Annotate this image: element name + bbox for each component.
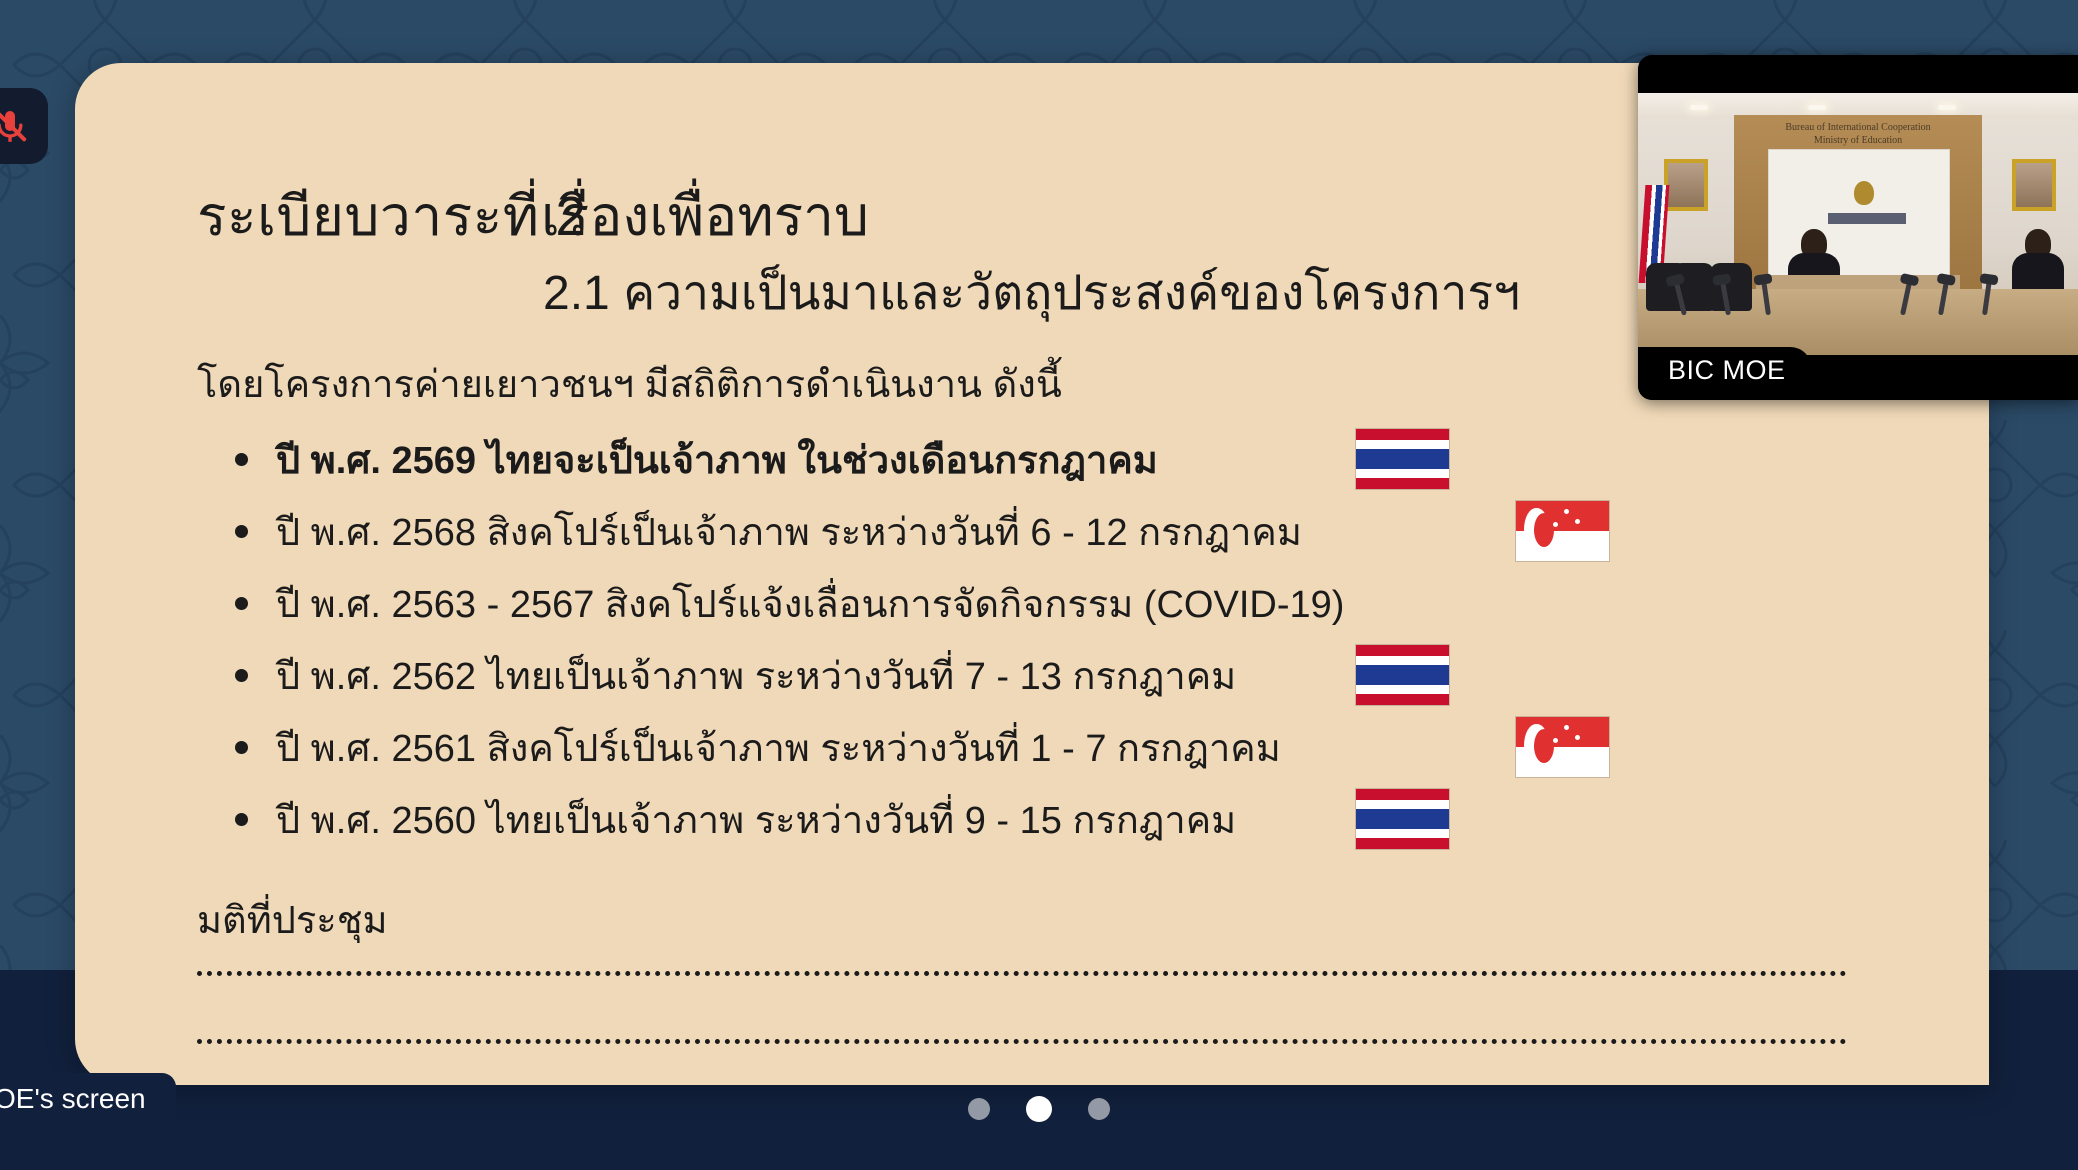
wall-portrait [1664, 159, 1708, 211]
pagination-dot[interactable] [968, 1098, 990, 1120]
pagination-dots[interactable] [968, 1096, 1110, 1122]
name-plate [1828, 213, 1906, 224]
bullet-dot-icon [235, 525, 248, 538]
participant-name-label: BIC MOE [1638, 347, 1812, 400]
bullet-dot-icon [235, 813, 248, 826]
video-feed: Bureau of International Cooperation Mini… [1638, 93, 2078, 355]
participant-video-tile[interactable]: Bureau of International Cooperation Mini… [1638, 55, 2078, 400]
room-sign-line-2: Ministry of Education [1734, 135, 1982, 146]
microphone-muted-icon [0, 106, 30, 146]
ministry-seal-icon [1854, 181, 1874, 205]
list-item: ปี พ.ศ. 2560 ไทยเป็นเจ้าภาพ ระหว่างวันที… [235, 783, 1795, 855]
slide-intro-text: โดยโครงการค่ายเยาวชนฯ มีสถิติการดำเนินงา… [197, 353, 1062, 414]
thailand-flag-icon [1355, 428, 1450, 490]
list-item-label: ปี พ.ศ. 2568 สิงคโปร์เป็นเจ้าภาพ ระหว่าง… [276, 501, 1302, 562]
list-item: ปี พ.ศ. 2563 - 2567 สิงคโปร์แจ้งเลื่อนกา… [235, 567, 1795, 639]
slide-title-subject: เรื่องเพื่อทราบ [541, 173, 869, 260]
slide-subtitle-item: 2.1 ความเป็นมาและวัตถุประสงค์ของโครงการฯ [543, 255, 1520, 331]
bullet-dot-icon [235, 597, 248, 610]
pagination-dot[interactable] [1088, 1098, 1110, 1120]
dotted-writing-line [197, 1039, 1847, 1044]
list-item-label: ปี พ.ศ. 2560 ไทยเป็นเจ้าภาพ ระหว่างวันที… [276, 789, 1236, 850]
resolution-label: มติที่ประชุม [197, 889, 388, 950]
room-sign-line-1: Bureau of International Cooperation [1734, 122, 1982, 133]
list-item: ปี พ.ศ. 2569 ไทยจะเป็นเจ้าภาพ ในช่วงเดือ… [235, 423, 1795, 495]
bullet-dot-icon [235, 669, 248, 682]
dotted-writing-line [197, 971, 1847, 976]
bullet-dot-icon [235, 741, 248, 754]
list-item-label: ปี พ.ศ. 2561 สิงคโปร์เป็นเจ้าภาพ ระหว่าง… [276, 717, 1281, 778]
bullet-dot-icon [235, 453, 248, 466]
singapore-flag-icon [1515, 500, 1610, 562]
list-item: ปี พ.ศ. 2561 สิงคโปร์เป็นเจ้าภาพ ระหว่าง… [235, 711, 1795, 783]
singapore-flag-icon [1515, 716, 1610, 778]
list-item-label: ปี พ.ศ. 2569 ไทยจะเป็นเจ้าภาพ ในช่วงเดือ… [276, 429, 1158, 490]
slide-title-agenda: ระเบียบวาระที่ 2 [197, 173, 586, 260]
list-item-label: ปี พ.ศ. 2563 - 2567 สิงคโปร์แจ้งเลื่อนกา… [276, 573, 1344, 634]
list-item: ปี พ.ศ. 2562 ไทยเป็นเจ้าภาพ ระหว่างวันที… [235, 639, 1795, 711]
thailand-flag-icon [1355, 788, 1450, 850]
statistics-bullet-list: ปี พ.ศ. 2569 ไทยจะเป็นเจ้าภาพ ในช่วงเดือ… [235, 423, 1795, 855]
microphone-muted-badge[interactable] [0, 88, 48, 164]
wall-portrait [2012, 159, 2056, 211]
list-item: ปี พ.ศ. 2568 สิงคโปร์เป็นเจ้าภาพ ระหว่าง… [235, 495, 1795, 567]
screen-share-label: OE's screen [0, 1073, 176, 1125]
list-item-label: ปี พ.ศ. 2562 ไทยเป็นเจ้าภาพ ระหว่างวันที… [276, 645, 1236, 706]
pagination-dot-active[interactable] [1026, 1096, 1052, 1122]
thailand-flag-icon [1355, 644, 1450, 706]
